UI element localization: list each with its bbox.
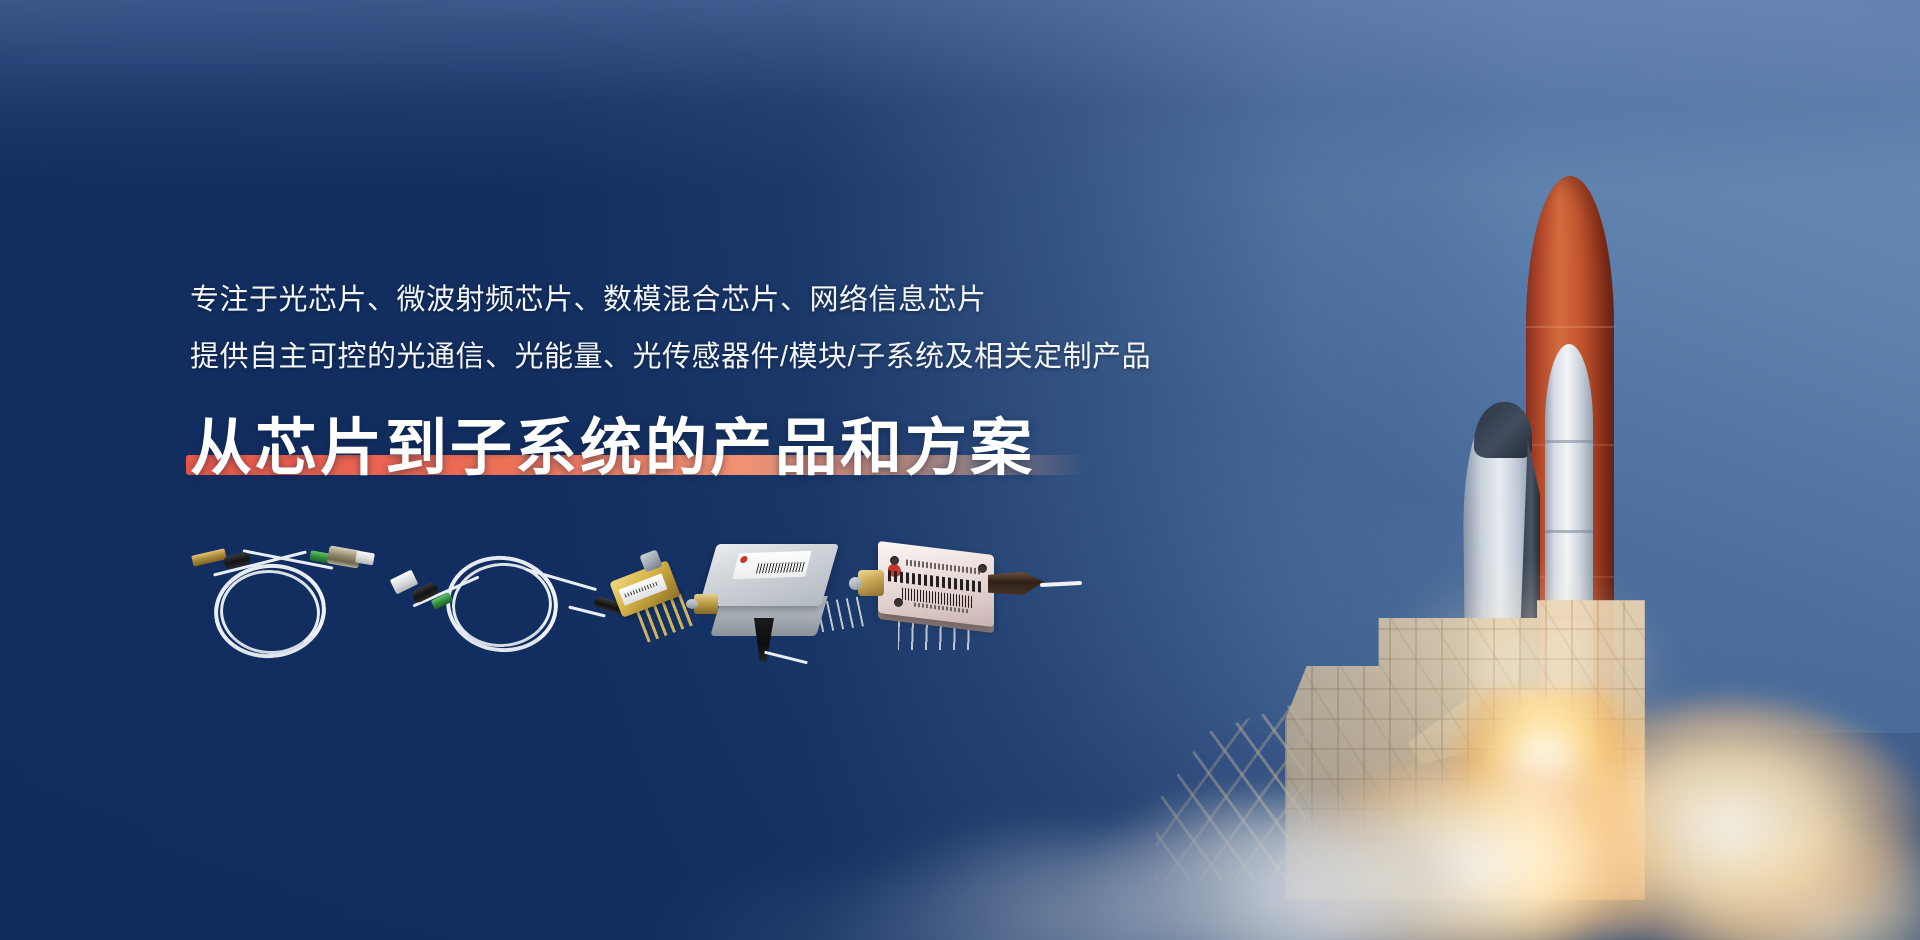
product-fiber-pigtail-assembly-1: [190, 532, 370, 662]
headline-wrapper: 从芯片到子系统的产品和方案: [190, 414, 1035, 483]
product-showcase: [190, 520, 1250, 680]
sma-connector: [858, 570, 884, 596]
product-rf-optical-module-grey: [692, 538, 852, 662]
product-optical-receiver-module: [858, 542, 1068, 660]
subtitle-line-2: 提供自主可控的光通信、光能量、光传感器件/模块/子系统及相关定制产品: [190, 335, 1310, 380]
sma-connector: [694, 594, 718, 614]
subtitle-line-1: 专注于光芯片、微波射频芯片、数模混合芯片、网络信息芯片: [190, 278, 1310, 323]
product-fiber-pigtail-assembly-2: [384, 534, 584, 664]
fiber-lead: [1040, 581, 1082, 587]
mounting-hole: [978, 564, 987, 573]
fiber-strain-relief-boot: [988, 572, 1044, 596]
mounting-hole: [890, 556, 899, 565]
page-title: 从芯片到子系统的产品和方案: [190, 414, 1035, 483]
hero-copy: 专注于光芯片、微波射频芯片、数模混合芯片、网络信息芯片 提供自主可控的光通信、光…: [190, 278, 1310, 483]
fiber-lead: [764, 651, 807, 665]
gold-ferrule-connector: [191, 548, 227, 566]
mounting-hole: [894, 598, 903, 607]
hero-banner: 专注于光芯片、微波射频芯片、数模混合芯片、网络信息芯片 提供自主可控的光通信、光…: [0, 0, 1920, 940]
product-butterfly-laser-package: [590, 548, 700, 652]
top-light-gradient: [0, 0, 1920, 190]
module-label: [732, 551, 811, 579]
